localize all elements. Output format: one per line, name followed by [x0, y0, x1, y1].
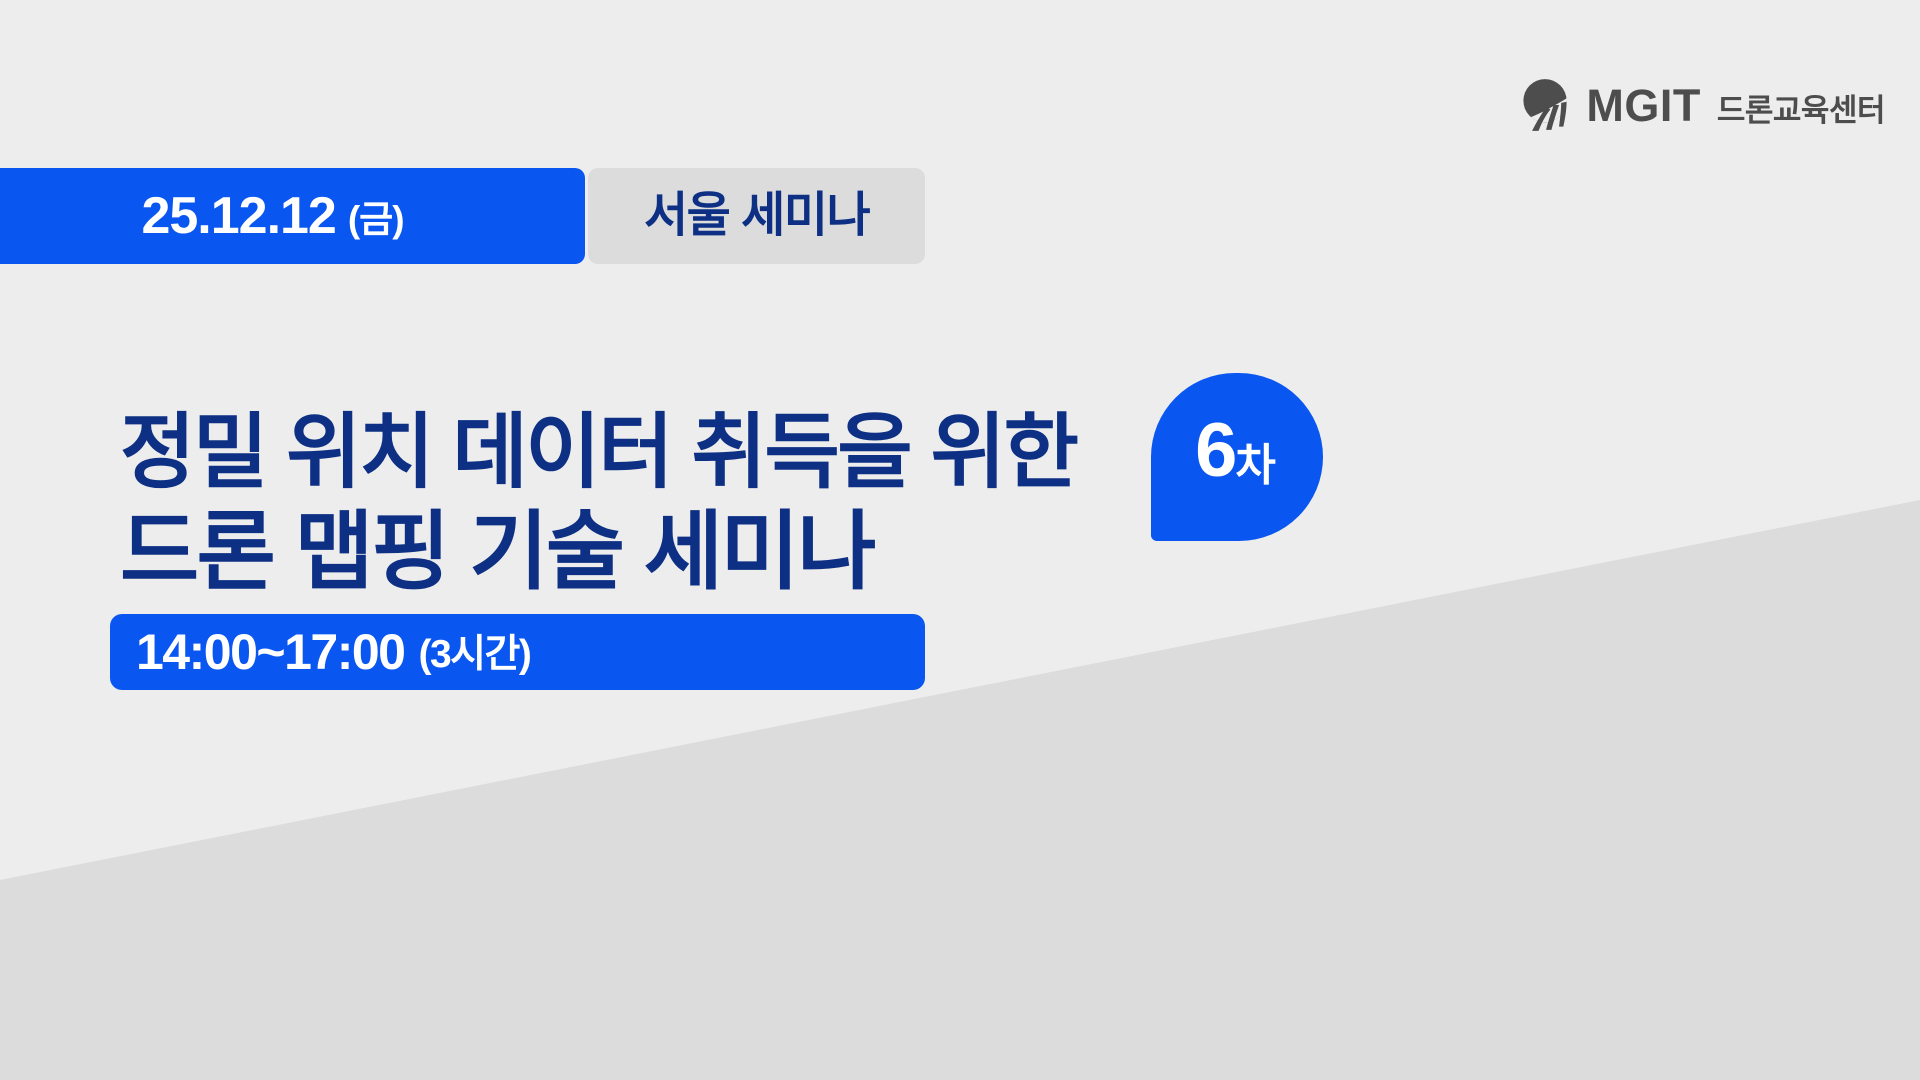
time-badge: 14:00~17:00 (3시간)	[110, 614, 925, 690]
date-badge-date: 25.12.12	[141, 190, 335, 242]
session-number: 6	[1195, 413, 1235, 489]
brand-logo: MGIT 드론교육센터	[1518, 78, 1885, 132]
brand-sub-name: 드론교육센터	[1717, 95, 1885, 126]
poster-canvas: MGIT 드론교육센터 25.12.12 (금) 서울 세미나 정밀 위치 데이…	[0, 0, 1920, 1080]
headline-line-1: 정밀 위치 데이터 취득을 위한	[120, 405, 1076, 502]
place-badge: 서울 세미나	[588, 168, 925, 264]
time-duration: (3시간)	[418, 635, 530, 674]
session-number-badge: 6 차	[1151, 373, 1323, 541]
date-badge-weekday: (금)	[348, 201, 404, 238]
mgit-road-circle-icon	[1518, 78, 1572, 132]
place-badge-label: 서울 세미나	[644, 192, 869, 240]
page-title: 정밀 위치 데이터 취득을 위한 드론 맵핑 기술 세미나	[120, 405, 1076, 603]
session-badge-content: 6 차	[1195, 413, 1275, 489]
time-range: 14:00~17:00	[136, 627, 404, 677]
session-unit-label: 차	[1235, 444, 1274, 488]
brand-name: MGIT	[1586, 83, 1700, 128]
date-badge: 25.12.12 (금)	[0, 168, 585, 264]
brand-text-group: MGIT 드론교육센터	[1586, 83, 1885, 128]
event-badge-row: 25.12.12 (금) 서울 세미나	[0, 168, 925, 264]
headline-line-2: 드론 맵핑 기술 세미나	[120, 502, 1076, 603]
